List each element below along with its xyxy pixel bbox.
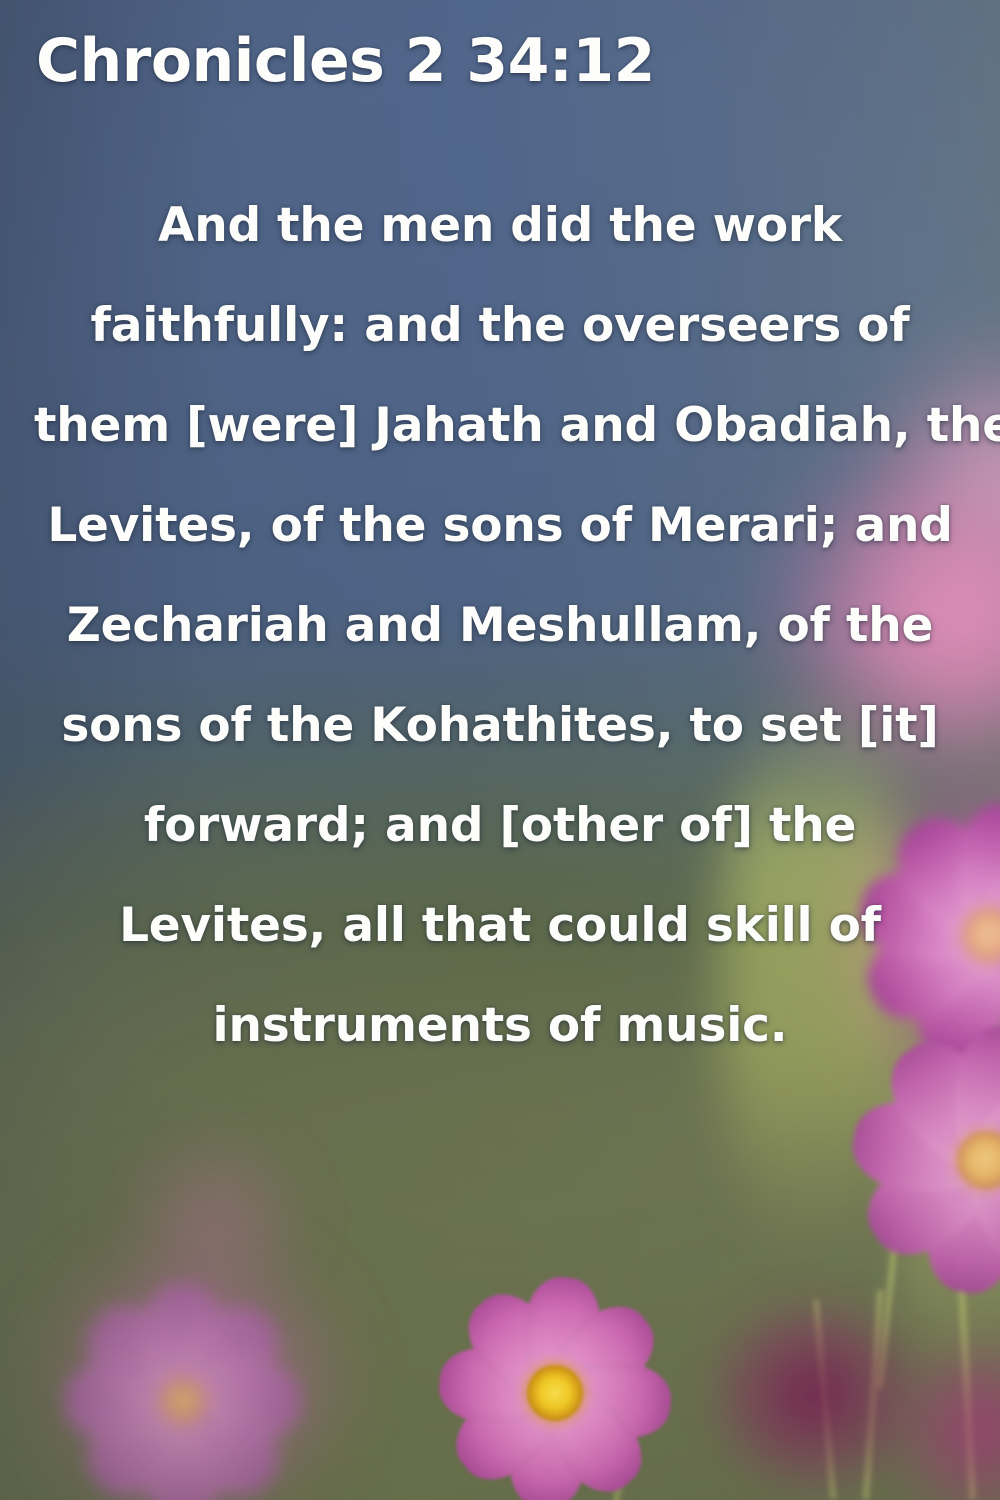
verse-text: And the men did the work faithfully: and… bbox=[34, 176, 966, 1076]
flower-center-icon bbox=[527, 1365, 583, 1421]
verse-line: them [were] Jahath and Obadiah, the bbox=[34, 376, 966, 476]
cosmos-flower-main-icon bbox=[430, 1268, 680, 1500]
verse-line: sons of the Kohathites, to set [it] bbox=[34, 676, 966, 776]
verse-line: And the men did the work bbox=[34, 176, 966, 276]
page-title: Chronicles 2 34:12 bbox=[36, 26, 655, 96]
verse-line: Levites, of the sons of Merari; and bbox=[34, 476, 966, 576]
verse-line: Levites, all that could skill of bbox=[34, 876, 966, 976]
verse-line: forward; and [other of] the bbox=[34, 776, 966, 876]
verse-poster: Chronicles 2 34:12 And the men did the w… bbox=[0, 0, 1000, 1500]
verse-line: instruments of music. bbox=[34, 976, 966, 1076]
verse-line: faithfully: and the overseers of bbox=[34, 276, 966, 376]
verse-line: Zechariah and Meshullam, of the bbox=[34, 576, 966, 676]
